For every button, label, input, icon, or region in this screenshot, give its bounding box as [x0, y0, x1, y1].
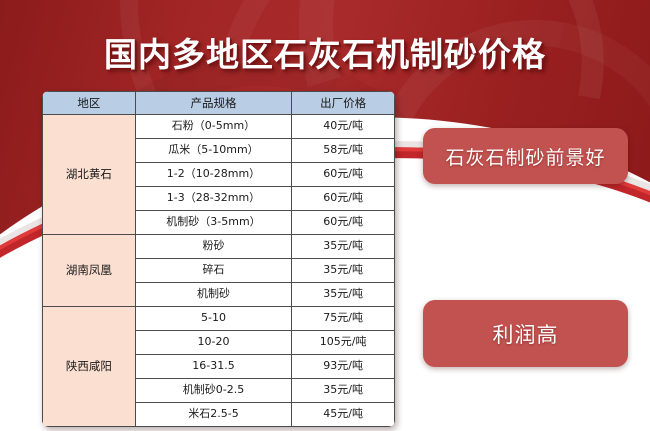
spec-cell: 碎石: [135, 259, 292, 283]
price-cell: 35元/吨: [292, 283, 395, 307]
spec-cell: 瓜米（5-10mm）: [135, 139, 292, 163]
spec-cell: 机制砂0-2.5: [135, 379, 292, 403]
column-header-spec: 产品规格: [135, 92, 292, 115]
column-header-price: 出厂价格: [292, 92, 395, 115]
price-poster: 国内多地区石灰石机制砂价格 地区 产品规格 出厂价格 湖北黄石 石粉（0-5mm…: [0, 0, 650, 431]
price-cell: 60元/吨: [292, 163, 395, 187]
price-cell: 40元/吨: [292, 115, 395, 139]
price-cell: 45元/吨: [292, 403, 395, 427]
price-cell: 35元/吨: [292, 259, 395, 283]
table-row: 陕西咸阳 5-10 75元/吨: [43, 307, 395, 331]
table-header-row: 地区 产品规格 出厂价格: [43, 92, 395, 115]
spec-cell: 5-10: [135, 307, 292, 331]
price-cell: 60元/吨: [292, 187, 395, 211]
table-row: 湖南凤凰 粉砂 35元/吨: [43, 235, 395, 259]
spec-cell: 10-20: [135, 331, 292, 355]
region-cell-hubei-huangshi: 湖北黄石: [43, 115, 136, 235]
price-cell: 35元/吨: [292, 235, 395, 259]
price-cell: 93元/吨: [292, 355, 395, 379]
table-row: 湖北黄石 石粉（0-5mm） 40元/吨: [43, 115, 395, 139]
spec-cell: 1-3（28-32mm）: [135, 187, 292, 211]
price-cell: 75元/吨: [292, 307, 395, 331]
spec-cell: 1-2（10-28mm）: [135, 163, 292, 187]
spec-cell: 米石2.5-5: [135, 403, 292, 427]
column-header-region: 地区: [43, 92, 136, 115]
price-cell: 35元/吨: [292, 379, 395, 403]
price-table: 地区 产品规格 出厂价格 湖北黄石 石粉（0-5mm） 40元/吨 瓜米（5-1…: [42, 91, 395, 427]
callout-prospect: 石灰石制砂前景好: [423, 128, 628, 184]
price-table-head: 地区 产品规格 出厂价格: [43, 92, 395, 115]
region-cell-shaanxi-xianyang: 陕西咸阳: [43, 307, 136, 427]
price-table-body: 湖北黄石 石粉（0-5mm） 40元/吨 瓜米（5-10mm） 58元/吨 1-…: [43, 115, 395, 427]
region-cell-hunan-fenghuang: 湖南凤凰: [43, 235, 136, 307]
price-cell: 58元/吨: [292, 139, 395, 163]
price-table-container: 地区 产品规格 出厂价格 湖北黄石 石粉（0-5mm） 40元/吨 瓜米（5-1…: [42, 91, 395, 427]
spec-cell: 机制砂: [135, 283, 292, 307]
price-cell: 105元/吨: [292, 331, 395, 355]
price-cell: 60元/吨: [292, 211, 395, 235]
spec-cell: 粉砂: [135, 235, 292, 259]
spec-cell: 石粉（0-5mm）: [135, 115, 292, 139]
spec-cell: 16-31.5: [135, 355, 292, 379]
poster-title: 国内多地区石灰石机制砂价格: [0, 28, 650, 76]
callout-profit: 利润高: [423, 300, 628, 367]
spec-cell: 机制砂（3-5mm）: [135, 211, 292, 235]
